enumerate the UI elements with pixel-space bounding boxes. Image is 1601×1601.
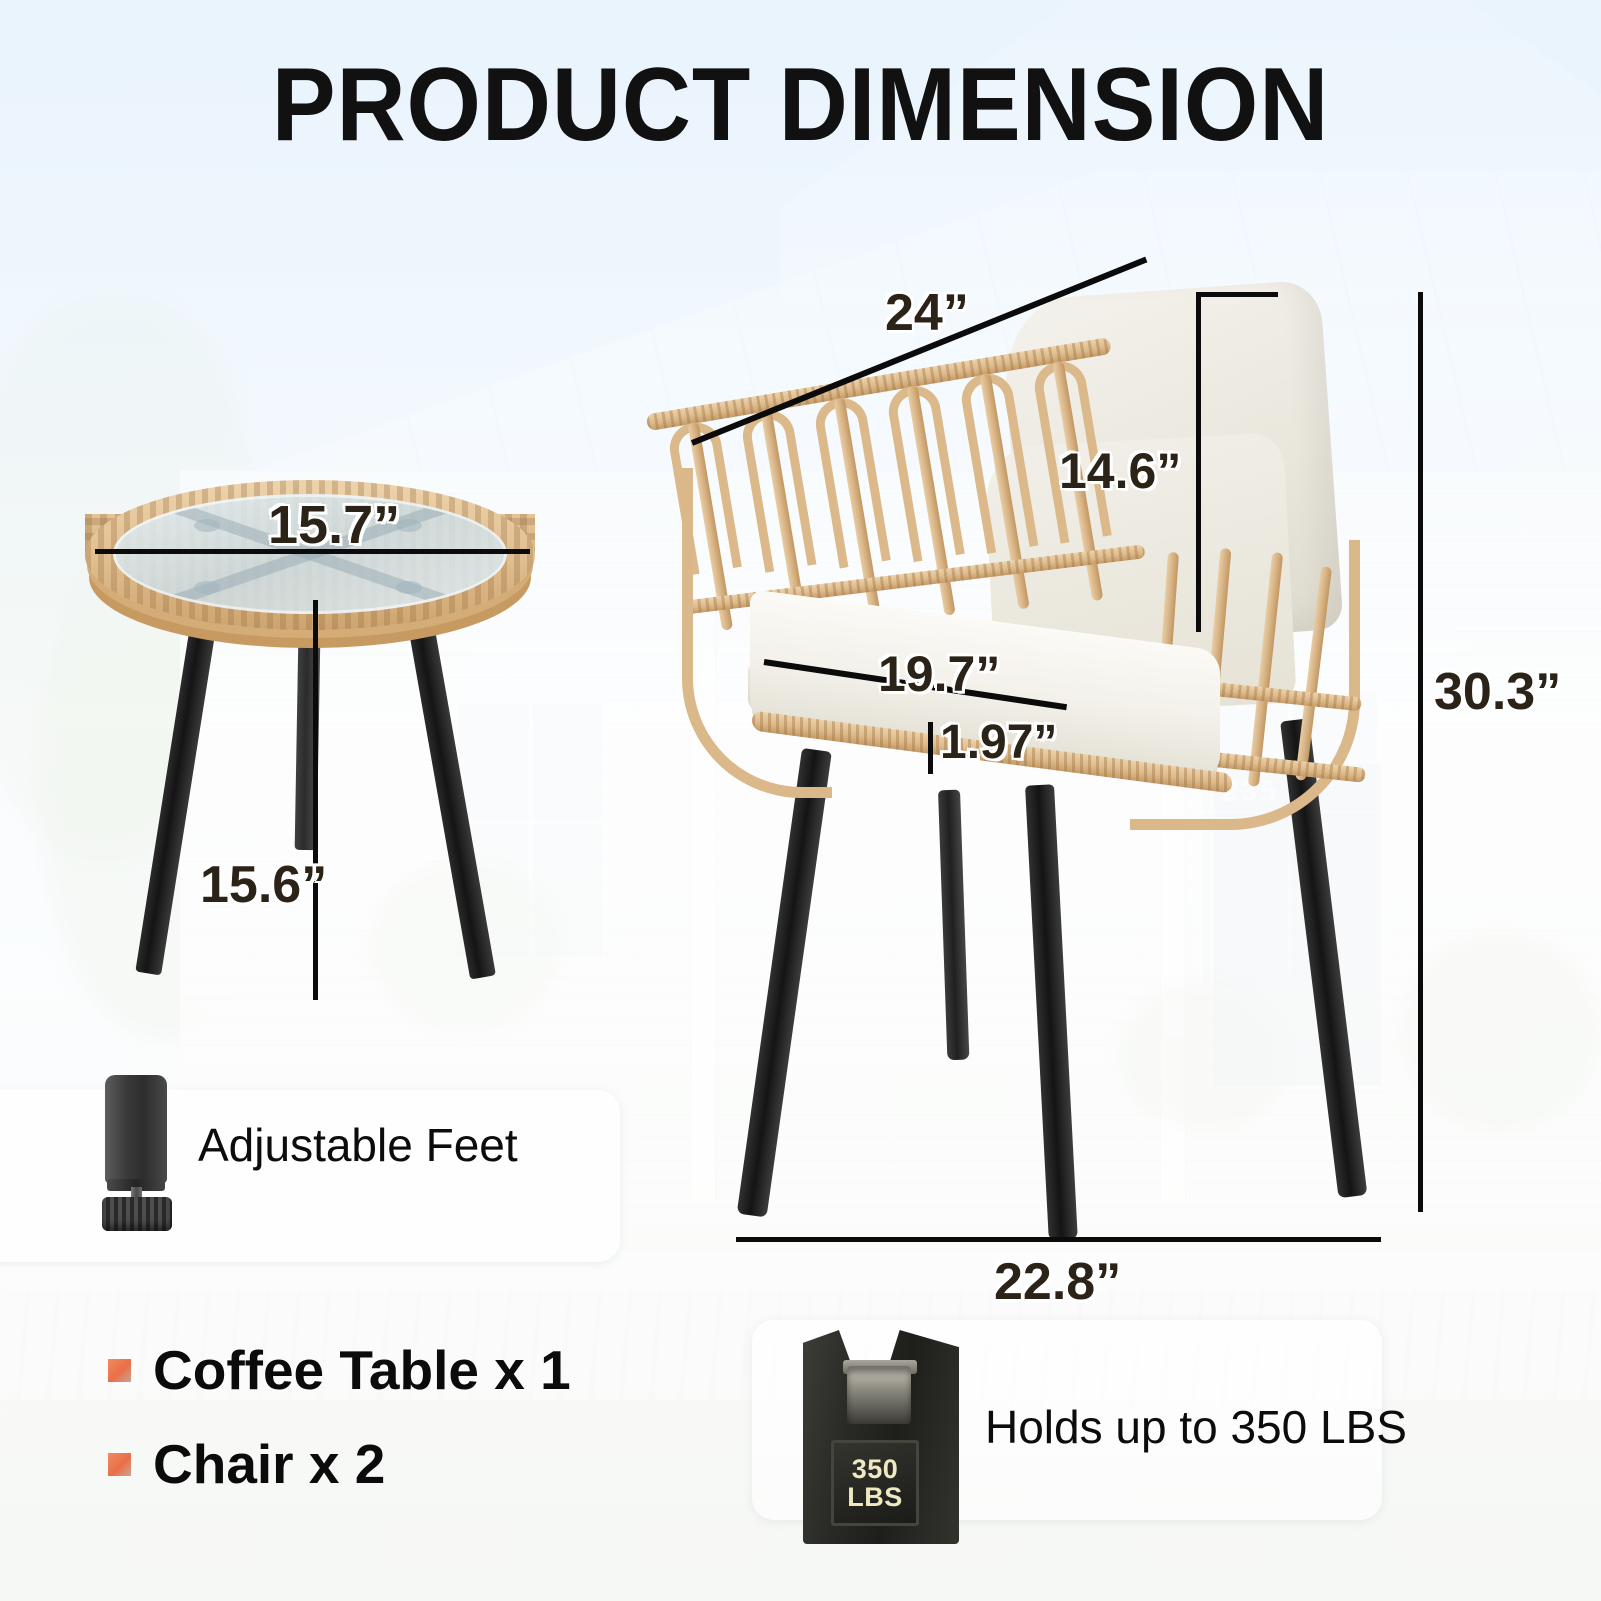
weight-block-value: 350 — [852, 1455, 899, 1483]
table-height-line — [313, 600, 318, 1000]
cushion-thickness-line — [928, 722, 933, 774]
backrest-height-label: 14.6” — [1059, 442, 1181, 500]
adjustable-feet-label: Adjustable Feet — [198, 1118, 518, 1172]
table-height-label: 15.6” — [200, 855, 327, 915]
infographic-canvas: 235 PRODUCT DIMENSION 15.7” 15.6” — [0, 0, 1601, 1601]
chair-leg — [1025, 784, 1078, 1240]
weight-block-icon: 350 LBS — [803, 1330, 959, 1544]
table-diameter-label: 15.7” — [268, 494, 400, 556]
cushion-thickness-label: 1.97” — [940, 715, 1057, 770]
adjustable-feet-card — [0, 1090, 620, 1262]
chair-leg — [938, 790, 969, 1061]
bullet-square-icon — [108, 1359, 131, 1382]
weight-block-unit: LBS — [847, 1483, 903, 1511]
table-pad — [396, 581, 422, 594]
list-item: Chair x 2 — [108, 1432, 385, 1496]
overall-height-line — [1418, 292, 1423, 1212]
seat-width-label: 19.7” — [878, 645, 1000, 703]
table-leg — [135, 606, 219, 976]
table-pad — [194, 581, 220, 594]
overall-height-label: 30.3” — [1434, 662, 1561, 722]
bullet-square-icon — [108, 1453, 131, 1476]
overall-width-label: 22.8” — [994, 1252, 1121, 1312]
coffee-table-illustration — [85, 480, 555, 1040]
adjustable-foot-icon — [105, 1075, 175, 1235]
overall-width-line — [736, 1237, 1381, 1242]
weight-capacity-label: Holds up to 350 LBS — [985, 1400, 1407, 1454]
package-item-label: Chair x 2 — [153, 1432, 385, 1496]
table-pad — [194, 519, 220, 532]
page-title: PRODUCT DIMENSION — [64, 46, 1537, 165]
package-item-label: Coffee Table x 1 — [153, 1338, 571, 1402]
backrest-height-line — [1196, 292, 1201, 632]
list-item: Coffee Table x 1 — [108, 1338, 571, 1402]
backrest-height-tick — [1196, 292, 1278, 297]
chair-depth-label: 24” — [885, 283, 969, 343]
chair-leg — [737, 748, 832, 1218]
table-leg — [405, 606, 496, 980]
